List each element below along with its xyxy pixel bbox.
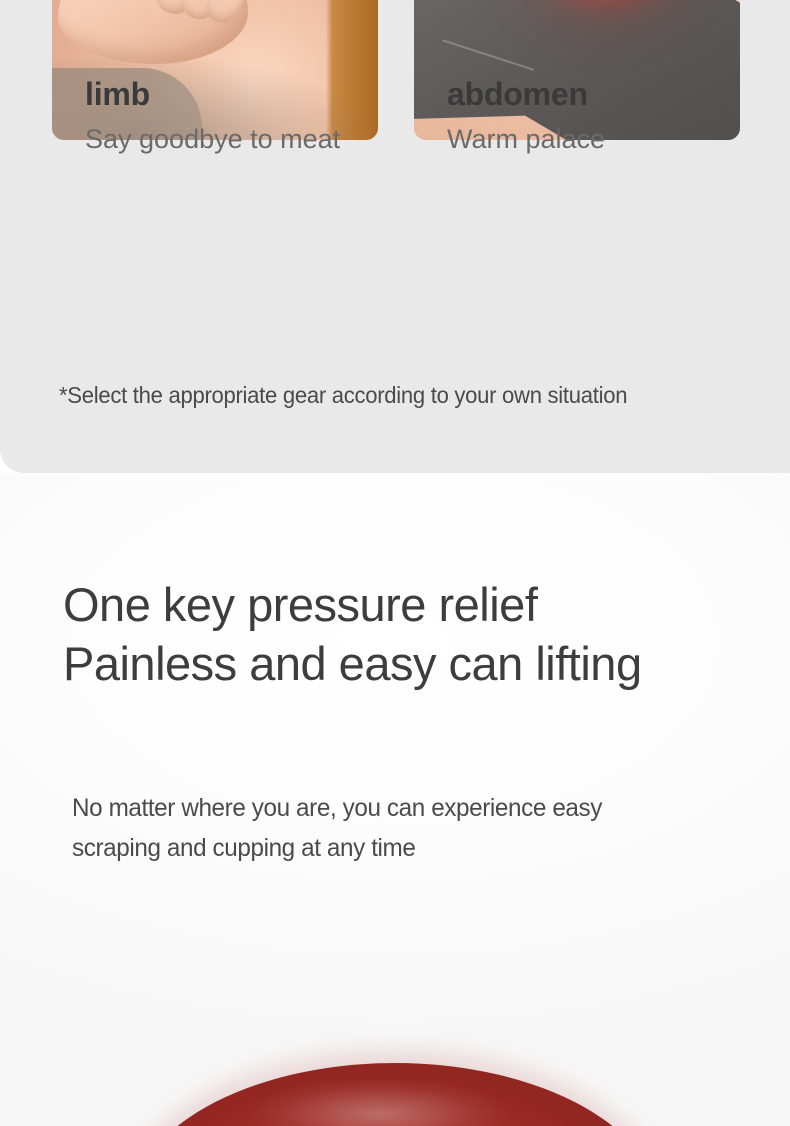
limb-usage-photo [52,0,378,140]
feature-subtitle-abdomen: Warm palace [447,126,605,153]
abdomen-usage-photo [414,0,740,140]
feature-card: limb Say goodbye to meat abdomen Warm pa… [0,0,790,473]
lower-section: One key pressure relief Painless and eas… [0,473,790,1126]
subcopy-line-1: No matter where you are, you can experie… [72,794,602,822]
subcopy-line-2: scraping and cupping at any time [72,834,415,862]
legging-shape [414,0,740,140]
section-headline: One key pressure relief Painless and eas… [63,575,642,693]
feature-title-limb: limb [85,78,150,110]
feature-subtitle-limb: Say goodbye to meat [85,126,340,153]
gear-selection-footnote: *Select the appropriate gear according t… [59,382,627,409]
feature-title-abdomen: abdomen [447,78,588,110]
headline-line-1: One key pressure relief [63,578,537,631]
feature-grid: limb Say goodbye to meat abdomen Warm pa… [0,0,790,300]
headline-line-2: Painless and easy can lifting [63,637,642,690]
section-subcopy: No matter where you are, you can experie… [72,788,693,868]
